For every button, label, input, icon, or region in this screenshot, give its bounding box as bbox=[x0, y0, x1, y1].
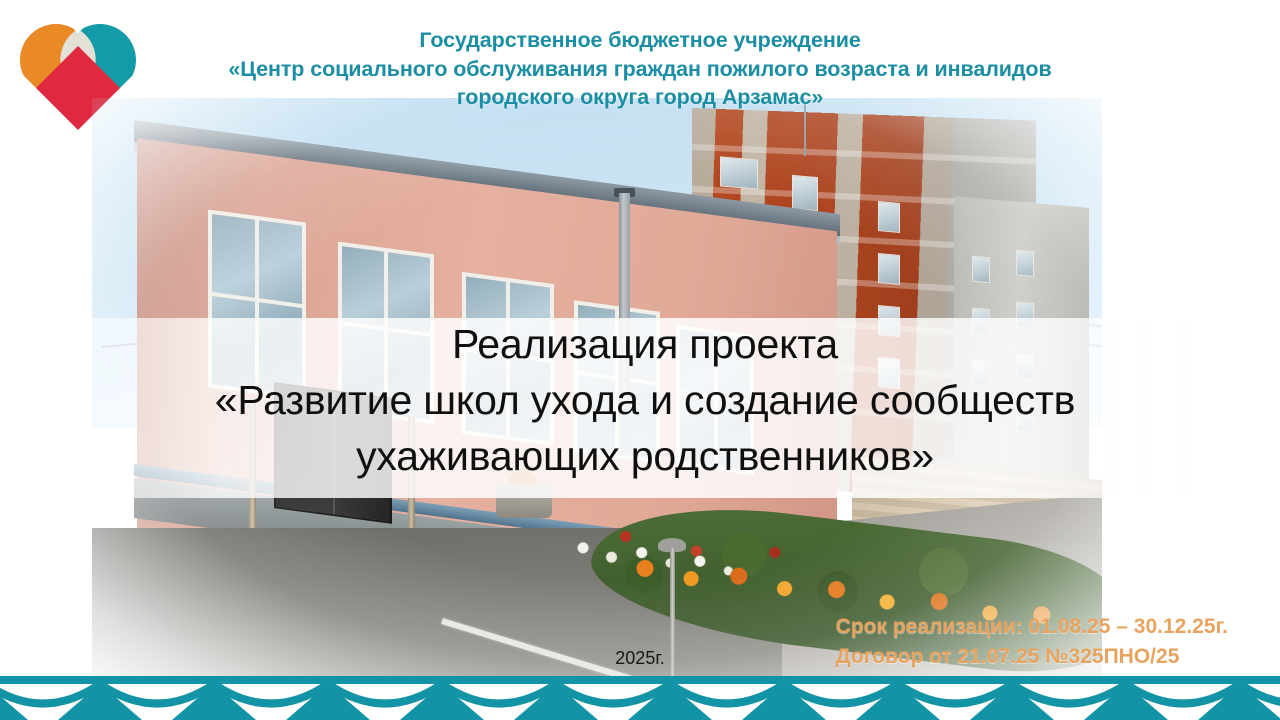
header-line-3: городского округа город Арзамас» bbox=[170, 83, 1110, 112]
header-line-2: «Центр социального обслуживания граждан … bbox=[170, 55, 1110, 84]
header-line-1: Государственное бюджетное учреждение bbox=[170, 26, 1110, 55]
concrete-planter bbox=[496, 484, 552, 518]
project-terms: Срок реализации: 01.08.25 – 30.12.25г. Д… bbox=[836, 612, 1228, 672]
slide-title: Реализация проекта «Развитие школ ухода … bbox=[70, 316, 1220, 484]
title-line-3: ухаживающих родственников» bbox=[70, 428, 1220, 484]
scalloped-bottom-border bbox=[0, 673, 1280, 720]
terms-line-period: Срок реализации: 01.08.25 – 30.12.25г. bbox=[836, 612, 1228, 642]
presentation-slide: Государственное бюджетное учреждение «Це… bbox=[0, 0, 1280, 720]
title-line-1: Реализация проекта bbox=[70, 316, 1220, 372]
title-line-2: «Развитие школ ухода и создание сообщест… bbox=[70, 372, 1220, 428]
roof-antenna bbox=[804, 104, 806, 156]
border-top-bar bbox=[0, 676, 1280, 684]
border-drapes bbox=[0, 684, 1280, 704]
terms-line-contract: Договор от 21.07.25 №325ПНО/25 bbox=[836, 642, 1228, 672]
organization-header: Государственное бюджетное учреждение «Це… bbox=[170, 26, 1110, 112]
